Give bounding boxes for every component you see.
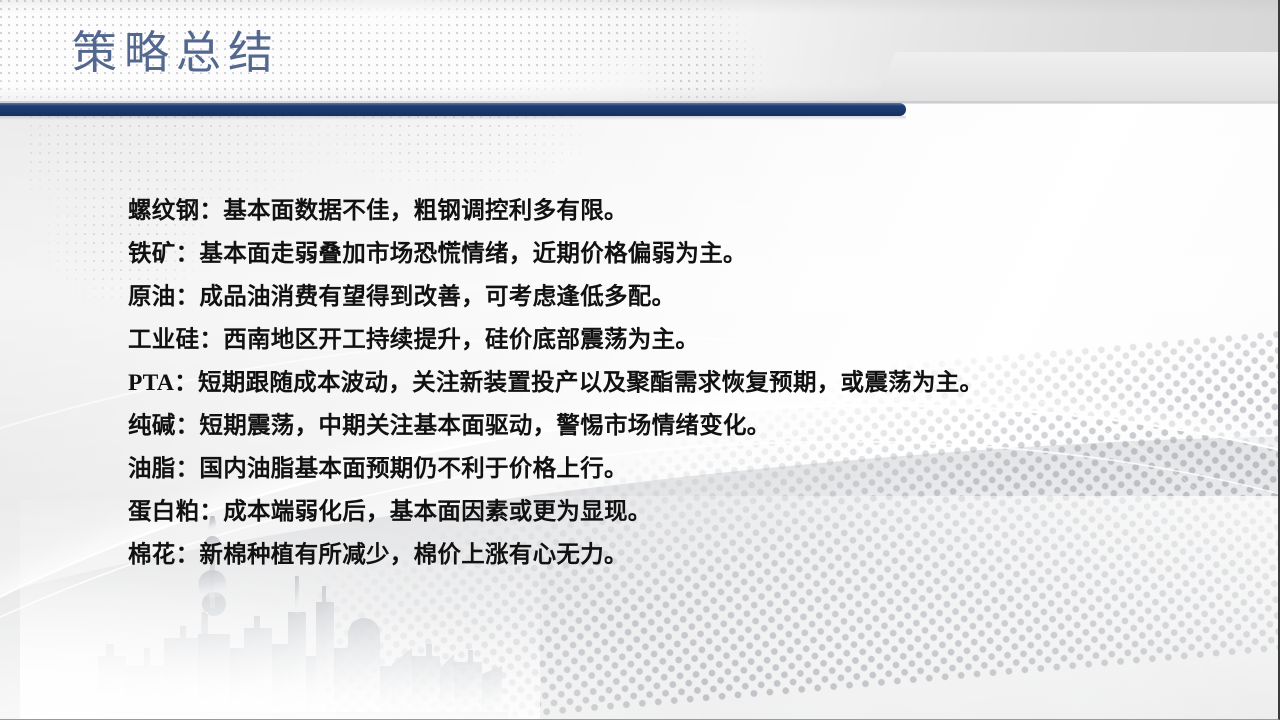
list-item: 蛋白粕：成本端弱化后，基本面因素或更为显现。: [128, 491, 983, 534]
accent-bar-highlight: [0, 103, 906, 106]
list-item: 油脂：国内油脂基本面预期仍不利于价格上行。: [128, 448, 983, 491]
slide-body: 螺纹钢：基本面数据不佳，粗钢调控利多有限。 铁矿：基本面走弱叠加市场恐慌情绪，近…: [0, 116, 1280, 720]
header-accent-bar: [0, 103, 906, 116]
list-item: 螺纹钢：基本面数据不佳，粗钢调控利多有限。: [128, 190, 983, 233]
list-item: 工业硅：西南地区开工持续提升，硅价底部震荡为主。: [128, 319, 983, 362]
list-item: PTA：短期跟随成本波动，关注新装置投产以及聚酯需求恢复预期，或震荡为主。: [128, 362, 983, 405]
accent-bar-shadow: [0, 116, 906, 120]
list-item: 棉花：新棉种植有所减少，棉价上涨有心无力。: [128, 534, 983, 577]
summary-list: 螺纹钢：基本面数据不佳，粗钢调控利多有限。 铁矿：基本面走弱叠加市场恐慌情绪，近…: [128, 190, 983, 577]
presentation-slide: 策略总结: [0, 0, 1280, 720]
list-item: 铁矿：基本面走弱叠加市场恐慌情绪，近期价格偏弱为主。: [128, 233, 983, 276]
page-title: 策略总结: [72, 31, 280, 76]
list-item: 纯碱：短期震荡，中期关注基本面驱动，警惕市场情绪变化。: [128, 405, 983, 448]
list-item: 原油：成品油消费有望得到改善，可考虑逢低多配。: [128, 276, 983, 319]
header-diagonal-slab: [864, 52, 1280, 104]
